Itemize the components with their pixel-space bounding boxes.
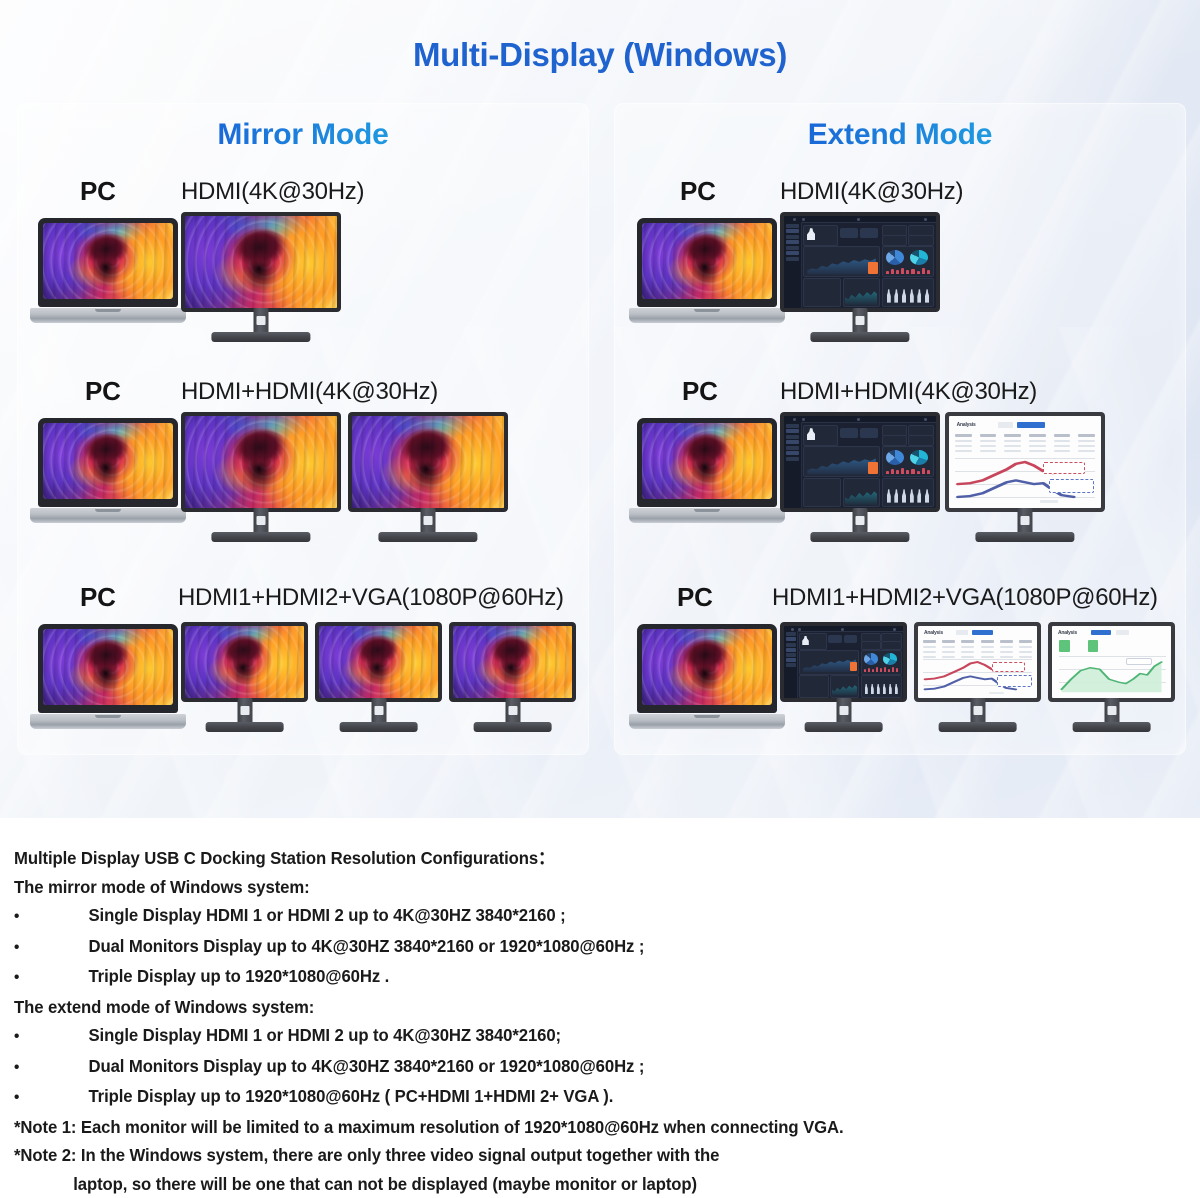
monitor-screen-dashboard-dark: [784, 216, 936, 308]
monitor-device: [449, 622, 576, 732]
laptop-lid: [38, 418, 178, 507]
note-text: Single Display HDMI 1 or HDMI 2 up to 4K…: [88, 1025, 561, 1045]
dashboard-analysis-area: Analysis: [1052, 626, 1171, 698]
monitor-device: [181, 622, 308, 732]
notes-block: Multiple Display USB C Docking Station R…: [0, 818, 1200, 1196]
monitor-screen-dashboard-dark: [784, 416, 936, 508]
bullet-icon: [14, 1021, 88, 1052]
laptop-base: [30, 508, 187, 523]
note-bullet: Triple Display up to 1920*1080@60Hz ( PC…: [14, 1082, 1133, 1113]
label-pc: PC: [677, 582, 713, 613]
laptop-base: [30, 308, 187, 323]
monitor-device: [780, 622, 907, 732]
monitor-device: [181, 412, 341, 542]
monitor-device: Analysis: [1048, 622, 1175, 732]
label-pc: PC: [80, 582, 116, 613]
analysis-green-area: [1052, 626, 1171, 698]
laptop-device: [38, 624, 178, 729]
panel-title-extend: Extend Mode: [615, 118, 1185, 152]
diagram-hero-area: Multi-Display (Windows) Mirror Mode PC H…: [0, 0, 1200, 818]
note-text: Single Display HDMI 1 or HDMI 2 up to 4K…: [88, 905, 565, 925]
label-mode: HDMI+HDMI(4K@30Hz): [181, 378, 438, 406]
panel-title-mirror: Mirror Mode: [18, 118, 588, 152]
laptop-screen: [43, 423, 173, 499]
page-title: Multi-Display (Windows): [0, 36, 1200, 74]
monitor-device: Analysis: [945, 412, 1105, 542]
note-bullet: Dual Monitors Display up to 4K@30HZ 3840…: [14, 1052, 1133, 1083]
label-mode: HDMI1+HDMI2+VGA(1080P@60Hz): [178, 584, 564, 612]
note-line: *Note 1: Each monitor will be limited to…: [14, 1113, 1133, 1142]
monitor-foot: [211, 332, 310, 342]
monitor-screen-analysis-light: Analysis: [949, 416, 1101, 508]
analysis-annotation: [1126, 658, 1152, 666]
monitor-neck: [254, 308, 269, 334]
monitor-device: [181, 212, 341, 342]
monitor-device: [780, 212, 940, 342]
monitor-device: [315, 622, 442, 732]
note-text: Dual Monitors Display up to 4K@30HZ 3840…: [88, 1056, 644, 1076]
laptop-device: [637, 218, 777, 323]
note-line: The mirror mode of Windows system:: [14, 873, 1133, 902]
laptop-screen: [43, 223, 173, 299]
bullet-icon: [14, 932, 88, 963]
laptop-device: [637, 624, 777, 729]
label-pc: PC: [80, 176, 116, 207]
label-pc: PC: [682, 376, 718, 407]
label-pc: PC: [680, 176, 716, 207]
note-text: Dual Monitors Display up to 4K@30HZ 3840…: [88, 936, 644, 956]
panel-mirror-mode: Mirror Mode PC HDMI(4K@30Hz): [17, 103, 589, 755]
note-line: *Note 2: In the Windows system, there ar…: [14, 1141, 1133, 1170]
laptop-device: [38, 218, 178, 323]
note-bullet: Dual Monitors Display up to 4K@30HZ 3840…: [14, 932, 1133, 963]
wallpaper-abstract: [43, 423, 173, 499]
laptop-lid: [38, 218, 178, 307]
panel-extend-mode: Extend Mode PC HDMI(4K@30Hz): [614, 103, 1186, 755]
bullet-icon: [14, 901, 88, 932]
note-text: Triple Display up to 1920*1080@60Hz ( PC…: [88, 1086, 613, 1106]
monitor-screen-dashboard-dark: [784, 626, 903, 698]
label-mode: HDMI+HDMI(4K@30Hz): [780, 378, 1037, 406]
monitor-screen: [185, 216, 337, 308]
label-pc: PC: [85, 376, 121, 407]
monitor-screen-analysis-green: Analysis: [1052, 626, 1171, 698]
analysis-annotation-blue: [1049, 479, 1094, 494]
dashboard-analysis-lines: Analysis: [949, 416, 1101, 508]
note-bullet: Triple Display up to 1920*1080@60Hz .: [14, 962, 1133, 993]
note-text: Triple Display up to 1920*1080@60Hz .: [88, 966, 389, 986]
note-line: laptop, so there will be one that can no…: [14, 1170, 1133, 1198]
analysis-annotation-red: [1043, 462, 1085, 474]
note-line: The extend mode of Windows system:: [14, 993, 1133, 1022]
bullet-icon: [14, 1082, 88, 1113]
monitor-device: [780, 412, 940, 542]
monitor-screen-analysis-light: Analysis: [918, 626, 1037, 698]
wallpaper-abstract: [185, 216, 337, 308]
laptop-device: [637, 418, 777, 523]
label-mode: HDMI1+HDMI2+VGA(1080P@60Hz): [772, 584, 1158, 612]
label-mode: HDMI(4K@30Hz): [181, 178, 364, 206]
bullet-icon: [14, 962, 88, 993]
bullet-icon: [14, 1052, 88, 1083]
label-mode: HDMI(4K@30Hz): [780, 178, 963, 206]
monitor-bezel: [780, 212, 940, 312]
wallpaper-abstract: [43, 223, 173, 299]
monitor-device: [348, 412, 508, 542]
dashboard-dark: [784, 216, 936, 308]
note-bullet: Single Display HDMI 1 or HDMI 2 up to 4K…: [14, 901, 1133, 932]
monitor-device: Analysis: [914, 622, 1041, 732]
note-bullet: Single Display HDMI 1 or HDMI 2 up to 4K…: [14, 1021, 1133, 1052]
monitor-bezel: [181, 212, 341, 312]
laptop-device: [38, 418, 178, 523]
note-line: Multiple Display USB C Docking Station R…: [14, 844, 1133, 873]
